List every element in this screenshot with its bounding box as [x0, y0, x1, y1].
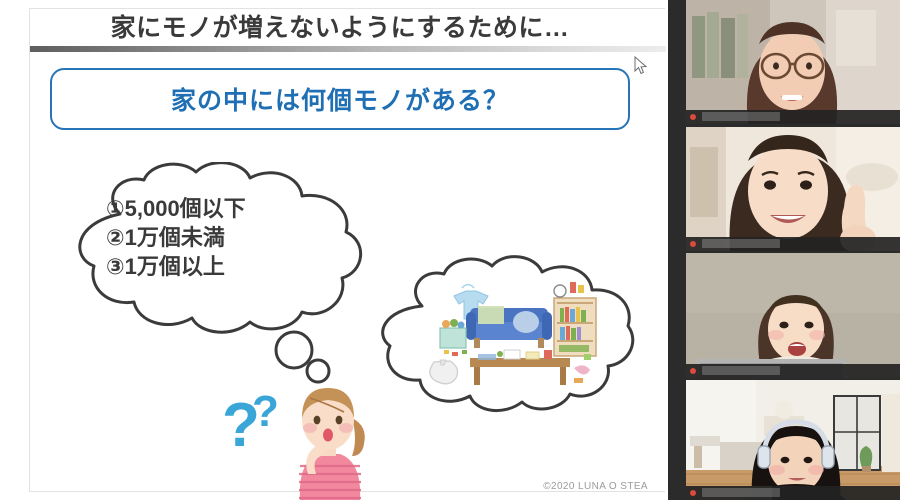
- copyright-footer: ©2020 LUNA O STEA: [0, 481, 660, 492]
- participant-4-video: [686, 380, 900, 500]
- screen-share-view: 家にモノが増えないようにするために… 家の中には何個モノがある？ ①5,000個…: [0, 0, 900, 500]
- participant-4-name-strip: [686, 486, 900, 500]
- question-box-text: 家の中には何個モノがある？: [171, 81, 509, 117]
- recording-dot-icon: [690, 368, 696, 374]
- participant-1-name-blur: [702, 112, 780, 121]
- participant-video-rail: [686, 0, 900, 500]
- question-box: 家の中には何個モノがある？: [50, 68, 630, 130]
- option-item-1: ①5,000個以下: [106, 194, 336, 223]
- mouse-pointer-icon: [634, 56, 648, 76]
- options-list: ①5,000個以下 ②1万個未満 ③1万個以上: [106, 194, 336, 281]
- recording-dot-icon: [690, 114, 696, 120]
- participant-3-name-blur: [702, 366, 780, 375]
- participant-1-video: [686, 0, 900, 124]
- option-item-3: ③1万個以上: [106, 252, 336, 281]
- svg-text:?: ?: [252, 388, 279, 436]
- video-tile-participant-2[interactable]: [686, 127, 900, 251]
- recording-dot-icon: [690, 490, 696, 496]
- slide-title: 家にモノが増えないようにするために…: [60, 6, 620, 46]
- participant-4-name-blur: [702, 488, 780, 497]
- slide-rail-gap: [668, 0, 686, 500]
- participant-3-name-strip: [686, 364, 900, 378]
- participant-1-name-strip: [686, 110, 900, 124]
- thought-cloud-options: ①5,000個以下 ②1万個未満 ③1万個以上: [62, 162, 372, 337]
- participant-2-name-blur: [702, 239, 780, 248]
- participant-2-video: [686, 127, 900, 251]
- cloud-shape-right: [378, 250, 640, 415]
- option-item-2: ②1万個未満: [106, 223, 336, 252]
- participant-3-video: [686, 253, 900, 378]
- presentation-slide: 家にモノが増えないようにするために… 家の中には何個モノがある？ ①5,000個…: [0, 0, 668, 500]
- participant-2-name-strip: [686, 237, 900, 251]
- video-tile-participant-3[interactable]: [686, 253, 900, 378]
- video-tile-participant-1[interactable]: [686, 0, 900, 124]
- title-divider: [30, 46, 666, 52]
- thought-cloud-room: [378, 250, 640, 415]
- video-tile-participant-4[interactable]: [686, 380, 900, 500]
- recording-dot-icon: [690, 241, 696, 247]
